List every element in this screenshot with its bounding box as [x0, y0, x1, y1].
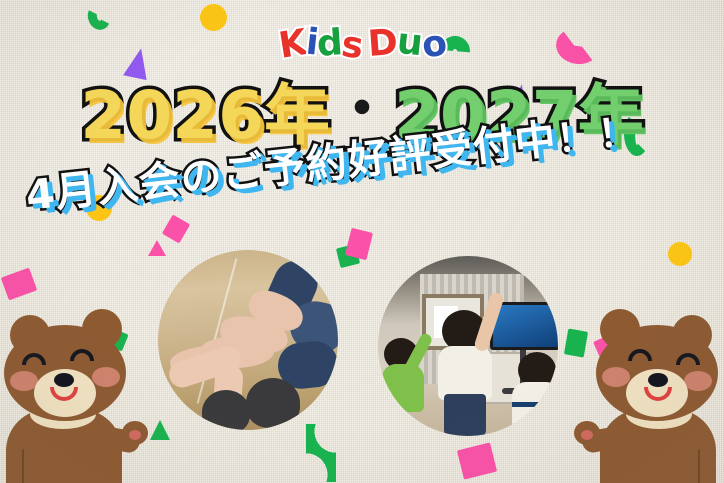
logo-word-kids: Kids [279, 26, 362, 62]
logo-letter-d2: D [367, 25, 398, 63]
headline-year-2026: 2026年 [80, 83, 330, 149]
bear-left-paw-pad [129, 430, 141, 440]
bear-mascot-left [0, 287, 156, 483]
photo-classroom [378, 256, 558, 436]
logo-letter-s: s [339, 27, 364, 65]
bear-left-nose [54, 373, 74, 387]
green-squiggle-bottom-confetti [306, 424, 336, 482]
bear-left-fur-line [22, 449, 24, 483]
bear-right-fur-line [698, 449, 700, 483]
logo-word-duo: Duo [368, 26, 445, 62]
yellow-circle-bang-confetti [668, 242, 692, 266]
bear-mascot-right [574, 287, 724, 483]
child-center-legs [444, 394, 486, 436]
bear-left-cheek-right [92, 367, 120, 387]
bear-right-cheek-right [602, 367, 630, 387]
kids-duo-logo[interactable]: Kids Duo [0, 26, 724, 62]
photo-stacked-hands [158, 250, 338, 430]
child-left-body [382, 364, 424, 412]
bear-right-paw-pad [581, 430, 593, 440]
logo-letter-d: d [316, 25, 343, 63]
bear-right-nose [648, 373, 668, 387]
child-right-shirt-stripe [512, 402, 558, 407]
slipper-left [202, 390, 250, 430]
pink-blob-center-confetti [345, 228, 373, 260]
subtitle-exclamations: ！！ [554, 108, 642, 161]
child-center-body [438, 346, 492, 400]
promo-banner: Kids Duo 2026年・2027年 4月入会のご予約好評受付中！！ [0, 0, 724, 483]
logo-letter-o: o [419, 25, 448, 64]
pink-diamond-subtitle-confetti [162, 214, 190, 243]
bear-right-cheek-left [684, 371, 712, 391]
slipper-right [246, 378, 300, 428]
pink-square-bottom-confetti [457, 442, 497, 479]
